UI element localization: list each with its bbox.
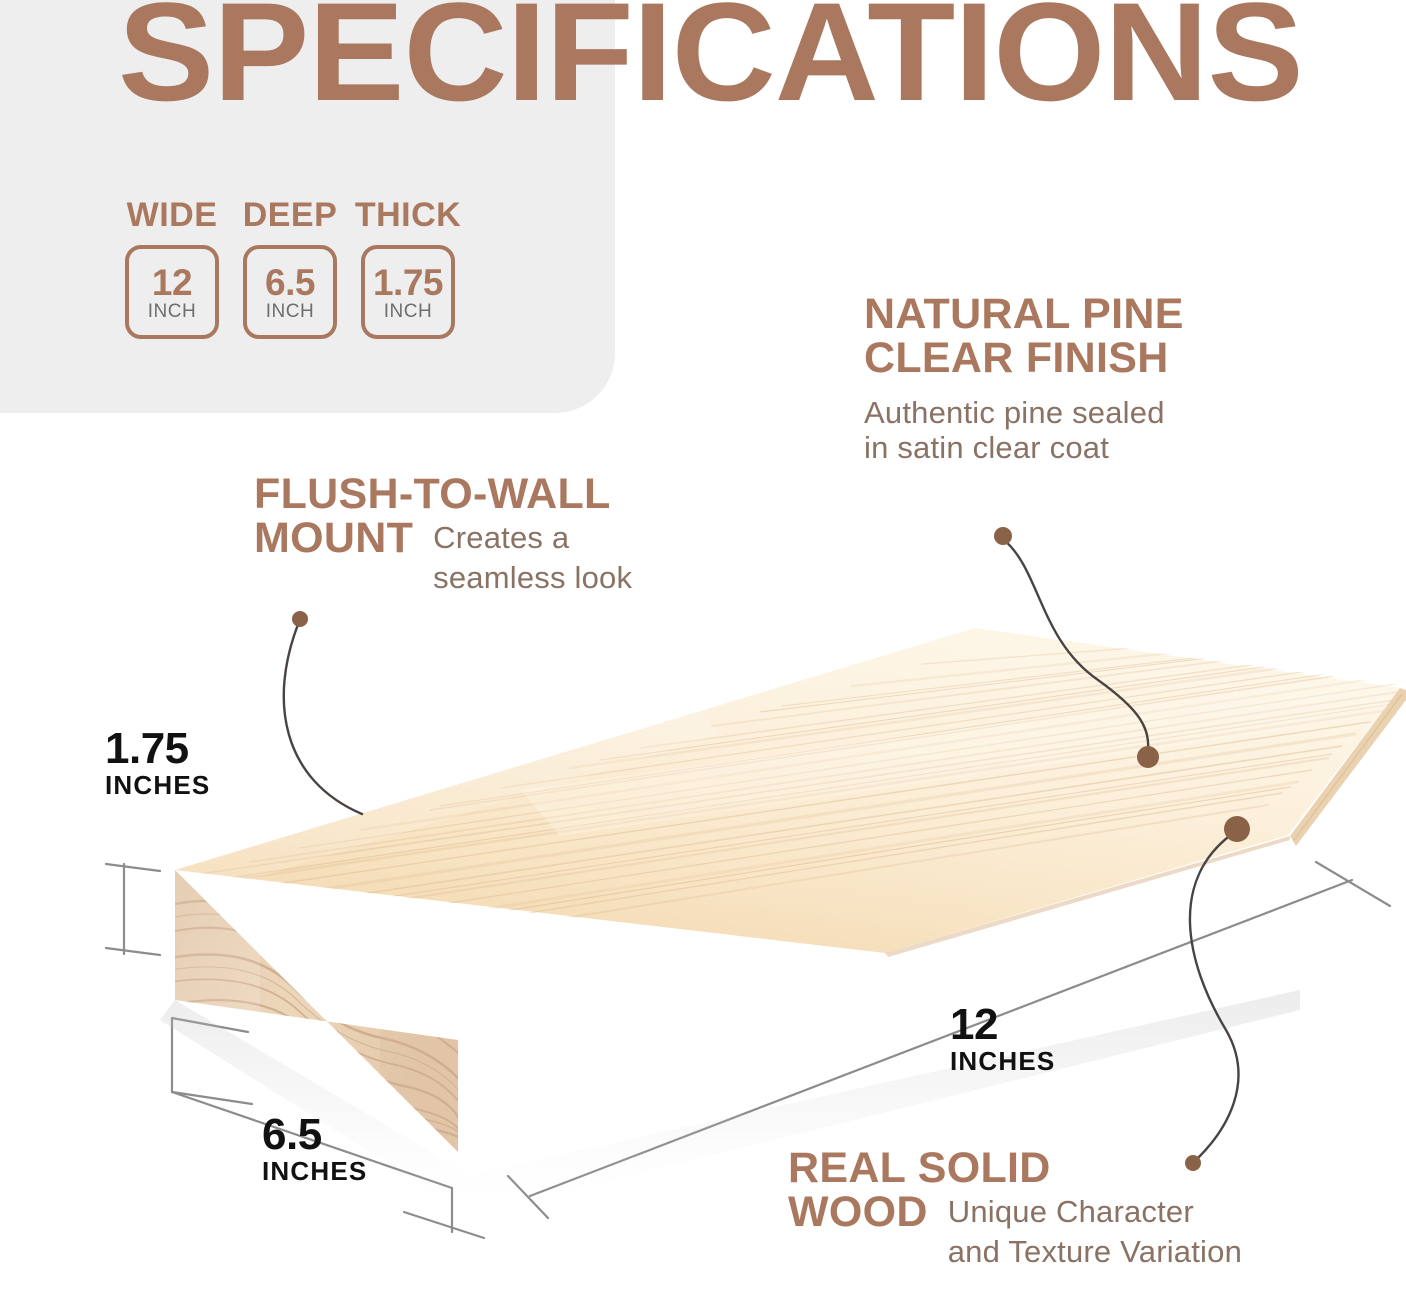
leader-real-solid-wood xyxy=(1190,834,1239,1158)
callout-dot-flush-to-wall xyxy=(292,611,308,627)
callout-leader-lines xyxy=(0,0,1406,1289)
leader-flush-to-wall xyxy=(284,622,362,814)
callout-dot-natural-pine-top xyxy=(994,527,1012,545)
callout-dot-real-solid-wood xyxy=(1185,1155,1201,1171)
callout-dot-natural-pine-board xyxy=(1137,746,1159,768)
infographic-canvas: SPECIFICATIONS xyxy=(0,0,1406,1289)
callout-dot-real-solid-wood-board xyxy=(1224,816,1250,842)
leader-natural-pine xyxy=(1004,540,1148,752)
